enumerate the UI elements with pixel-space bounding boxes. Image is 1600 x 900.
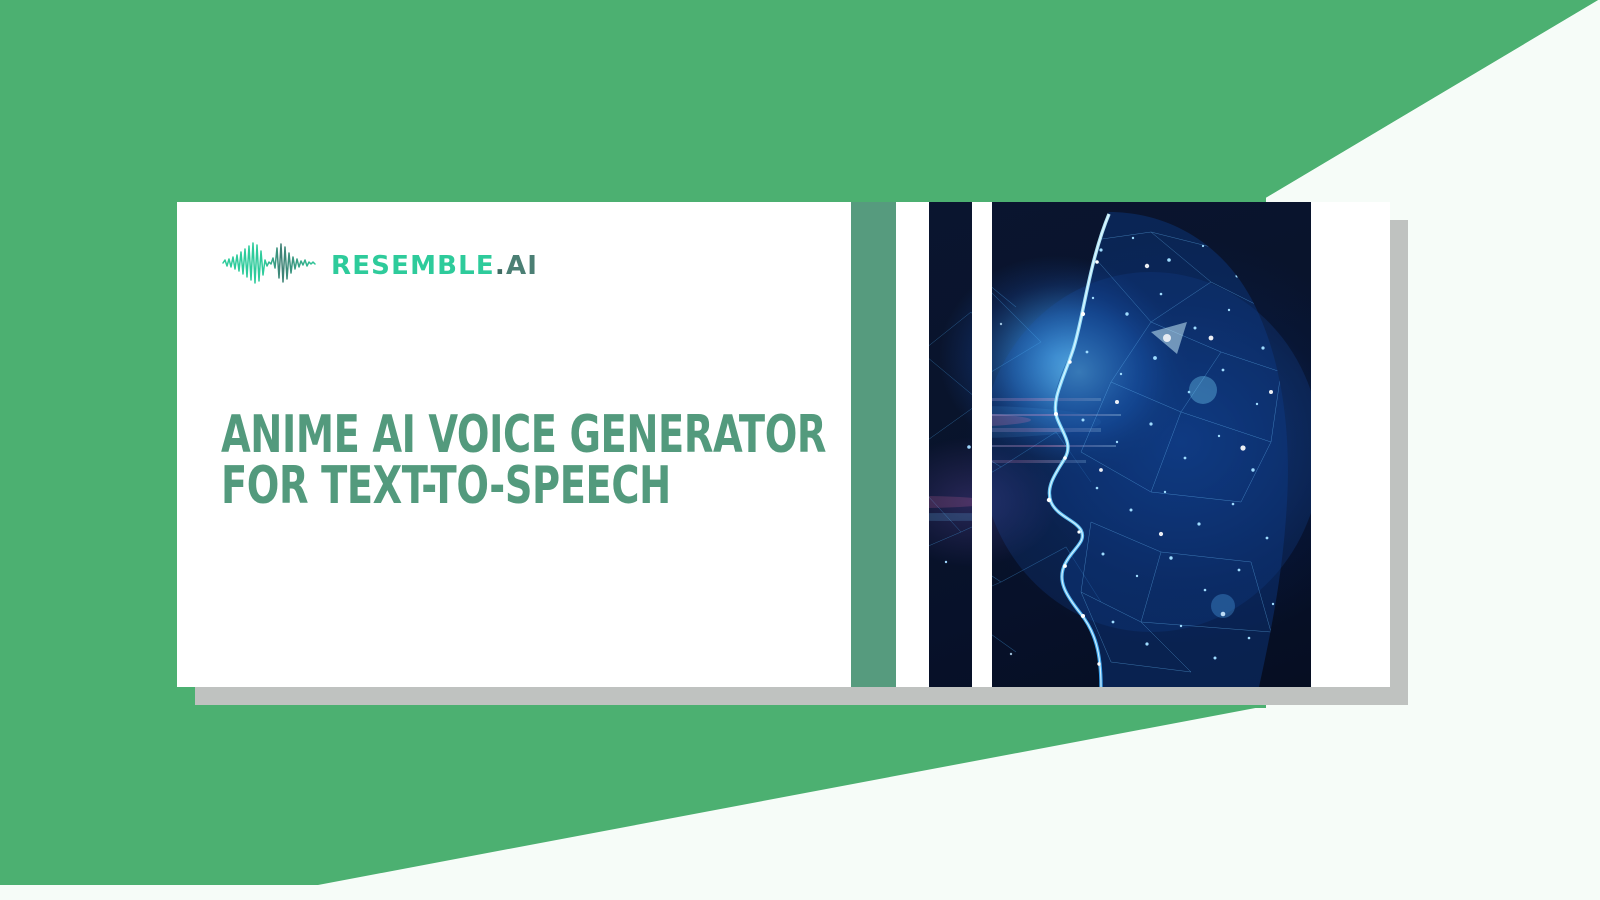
accent-stripe-green bbox=[851, 202, 896, 687]
brand-name-primary: RESEMBLE bbox=[331, 251, 495, 281]
brand-wordmark: RESEMBLE.AI bbox=[331, 253, 538, 279]
brand-name-separator: . bbox=[495, 251, 506, 281]
brand-name-suffix: AI bbox=[506, 251, 538, 281]
artwork-main-canvas bbox=[992, 202, 1311, 687]
banner-canvas: RESEMBLE.AI ANIME AI VOICE GENERATOR FOR… bbox=[0, 0, 1600, 900]
headline-line-2: FOR TEXT-TO-SPEECH bbox=[221, 461, 713, 512]
banner-card: RESEMBLE.AI ANIME AI VOICE GENERATOR FOR… bbox=[177, 202, 1390, 687]
background-green-bottom-wedge bbox=[0, 705, 1266, 885]
artwork-sliver-panel bbox=[929, 202, 972, 687]
card-text-column: RESEMBLE.AI ANIME AI VOICE GENERATOR FOR… bbox=[177, 202, 851, 687]
brand-logo[interactable]: RESEMBLE.AI bbox=[222, 240, 538, 291]
artwork-sliver-canvas bbox=[929, 202, 972, 687]
artwork-main-panel bbox=[992, 202, 1390, 687]
card-visual-column bbox=[851, 202, 1390, 687]
background-green-top-wedge bbox=[0, 0, 1600, 200]
headline-line-1: ANIME AI VOICE GENERATOR bbox=[221, 410, 713, 461]
audio-waveform-icon bbox=[222, 240, 317, 291]
banner-headline: ANIME AI VOICE GENERATOR FOR TEXT-TO-SPE… bbox=[221, 410, 713, 512]
